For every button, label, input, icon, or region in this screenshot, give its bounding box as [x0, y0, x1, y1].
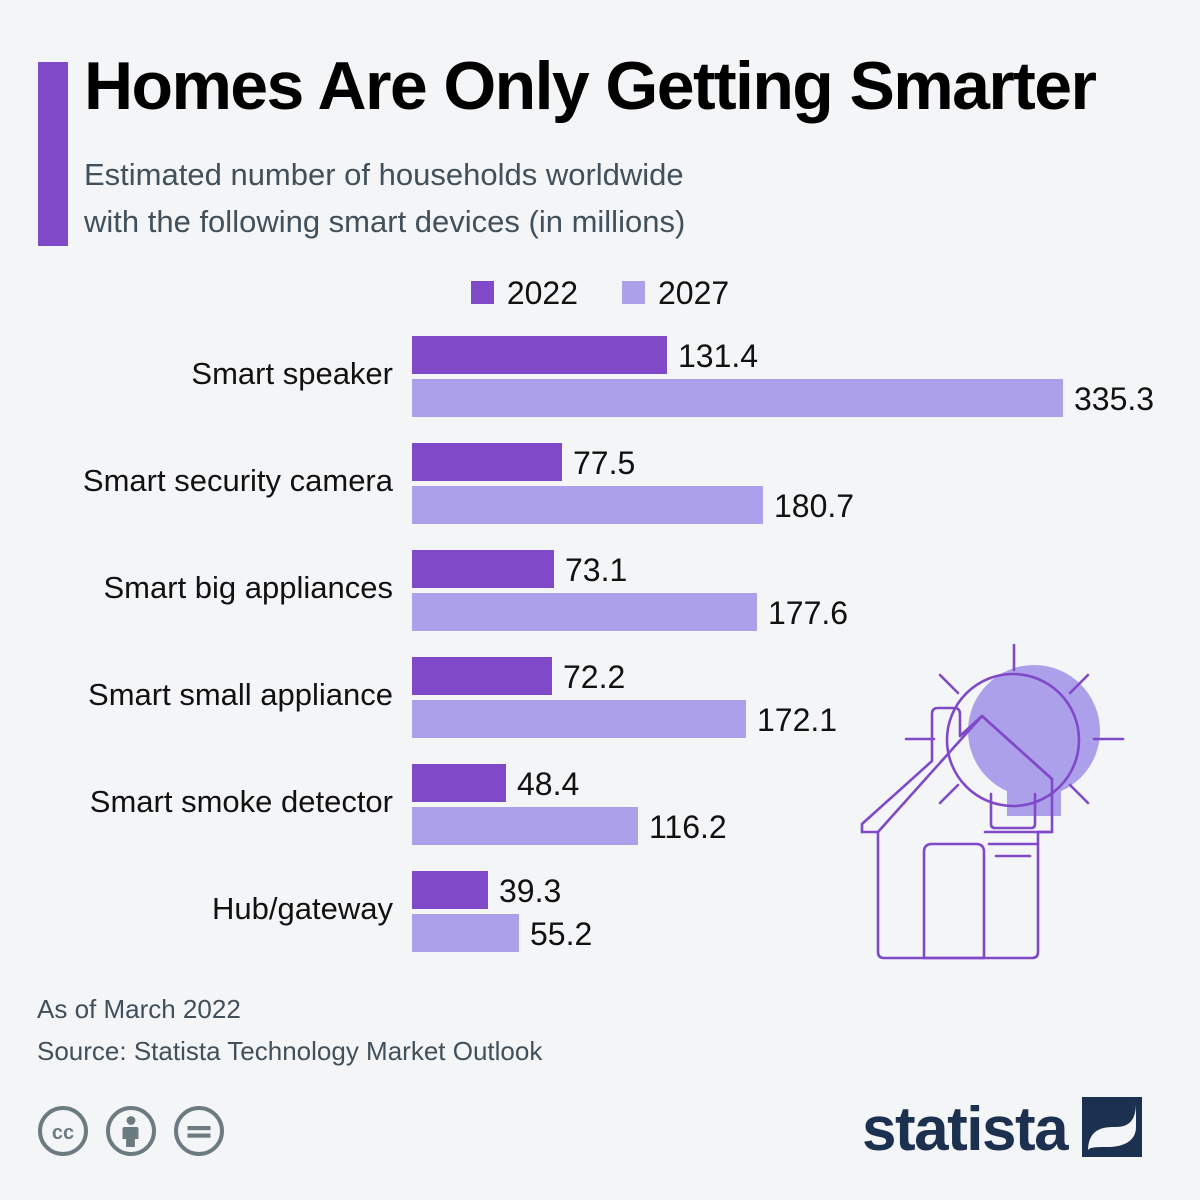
chart-row-smart-small-appliance: Smart small appliance 72.2 172.1 [0, 651, 1200, 739]
as-of-date: As of March 2022 [37, 988, 542, 1030]
legend-item-2022[interactable]: 2022 [471, 276, 578, 308]
footer-notes: As of March 2022 Source: Statista Techno… [37, 988, 542, 1072]
svg-text:cc: cc [52, 1122, 74, 1144]
bar-2027[interactable] [412, 593, 757, 631]
bar-group-2027: 180.7 [412, 486, 854, 524]
page-subtitle: Estimated number of households worldwide… [84, 152, 1144, 245]
bar-chart: Smart speaker 131.4 335.3 Smart security… [0, 330, 1200, 960]
page-title: Homes Are Only Getting Smarter [84, 52, 1184, 120]
legend-swatch-2022 [471, 281, 494, 304]
category-label: Smart speaker [0, 330, 393, 418]
no-derivatives-equals-icon[interactable] [173, 1105, 225, 1162]
category-label: Smart smoke detector [0, 758, 393, 846]
bar-2027[interactable] [412, 486, 763, 524]
bar-group-2027: 55.2 [412, 914, 592, 952]
bar-value-2022: 73.1 [565, 554, 627, 586]
bar-value-2027: 55.2 [530, 918, 592, 950]
bar-2022[interactable] [412, 764, 506, 802]
bar-2022[interactable] [412, 550, 554, 588]
bar-2022[interactable] [412, 336, 667, 374]
bar-group-2027: 172.1 [412, 700, 837, 738]
chart-row-smart-security-camera: Smart security camera 77.5 180.7 [0, 437, 1200, 525]
cc-icon[interactable]: cc [37, 1105, 89, 1162]
bar-value-2022: 72.2 [563, 661, 625, 693]
attribution-person-icon[interactable] [105, 1105, 157, 1162]
bar-value-2027: 172.1 [757, 704, 837, 736]
chart-row-smart-speaker: Smart speaker 131.4 335.3 [0, 330, 1200, 418]
bar-group-2027: 116.2 [412, 807, 727, 845]
bar-2027[interactable] [412, 700, 746, 738]
bar-2022[interactable] [412, 443, 562, 481]
legend-label-2022: 2022 [507, 277, 578, 309]
header: Homes Are Only Getting Smarter Estimated… [0, 0, 1200, 270]
chart-row-smart-smoke-detector: Smart smoke detector 48.4 116.2 [0, 758, 1200, 846]
subtitle-line-2: with the following smart devices (in mil… [84, 199, 1144, 246]
chart-row-hub-gateway: Hub/gateway 39.3 55.2 [0, 865, 1200, 953]
bar-2027[interactable] [412, 914, 519, 952]
source-line: Source: Statista Technology Market Outlo… [37, 1030, 542, 1072]
statista-wordmark: statista [862, 1099, 1067, 1161]
chart-row-smart-big-appliances: Smart big appliances 73.1 177.6 [0, 544, 1200, 632]
bar-2022[interactable] [412, 871, 488, 909]
bar-2027[interactable] [412, 807, 638, 845]
statista-mark-icon [1082, 1097, 1142, 1162]
bar-value-2022: 39.3 [499, 875, 561, 907]
bar-value-2022: 131.4 [678, 340, 758, 372]
statista-logo[interactable]: statista [862, 1097, 1142, 1162]
bar-2022[interactable] [412, 657, 552, 695]
subtitle-line-1: Estimated number of households worldwide [84, 152, 1144, 199]
category-label: Smart big appliances [0, 544, 393, 632]
bar-group-2022: 77.5 [412, 443, 635, 481]
bar-value-2022: 48.4 [517, 768, 579, 800]
chart-legend: 2022 2027 [0, 276, 1200, 308]
bar-value-2027: 116.2 [649, 811, 727, 843]
bar-value-2027: 180.7 [774, 490, 854, 522]
bar-group-2022: 73.1 [412, 550, 627, 588]
legend-swatch-2027 [622, 281, 645, 304]
accent-bar [38, 62, 68, 246]
bar-group-2027: 335.3 [412, 379, 1154, 417]
bar-2027[interactable] [412, 379, 1063, 417]
bar-group-2022: 72.2 [412, 657, 625, 695]
bar-group-2022: 131.4 [412, 336, 758, 374]
bar-value-2022: 77.5 [573, 447, 635, 479]
bar-group-2022: 48.4 [412, 764, 579, 802]
creative-commons-icons: cc [37, 1105, 225, 1162]
bar-group-2027: 177.6 [412, 593, 848, 631]
category-label: Hub/gateway [0, 865, 393, 953]
legend-item-2027[interactable]: 2027 [622, 276, 729, 308]
category-label: Smart security camera [0, 437, 393, 525]
category-label: Smart small appliance [0, 651, 393, 739]
bar-group-2022: 39.3 [412, 871, 561, 909]
bar-value-2027: 177.6 [768, 597, 848, 629]
legend-label-2027: 2027 [658, 277, 729, 309]
bar-value-2027: 335.3 [1074, 383, 1154, 415]
